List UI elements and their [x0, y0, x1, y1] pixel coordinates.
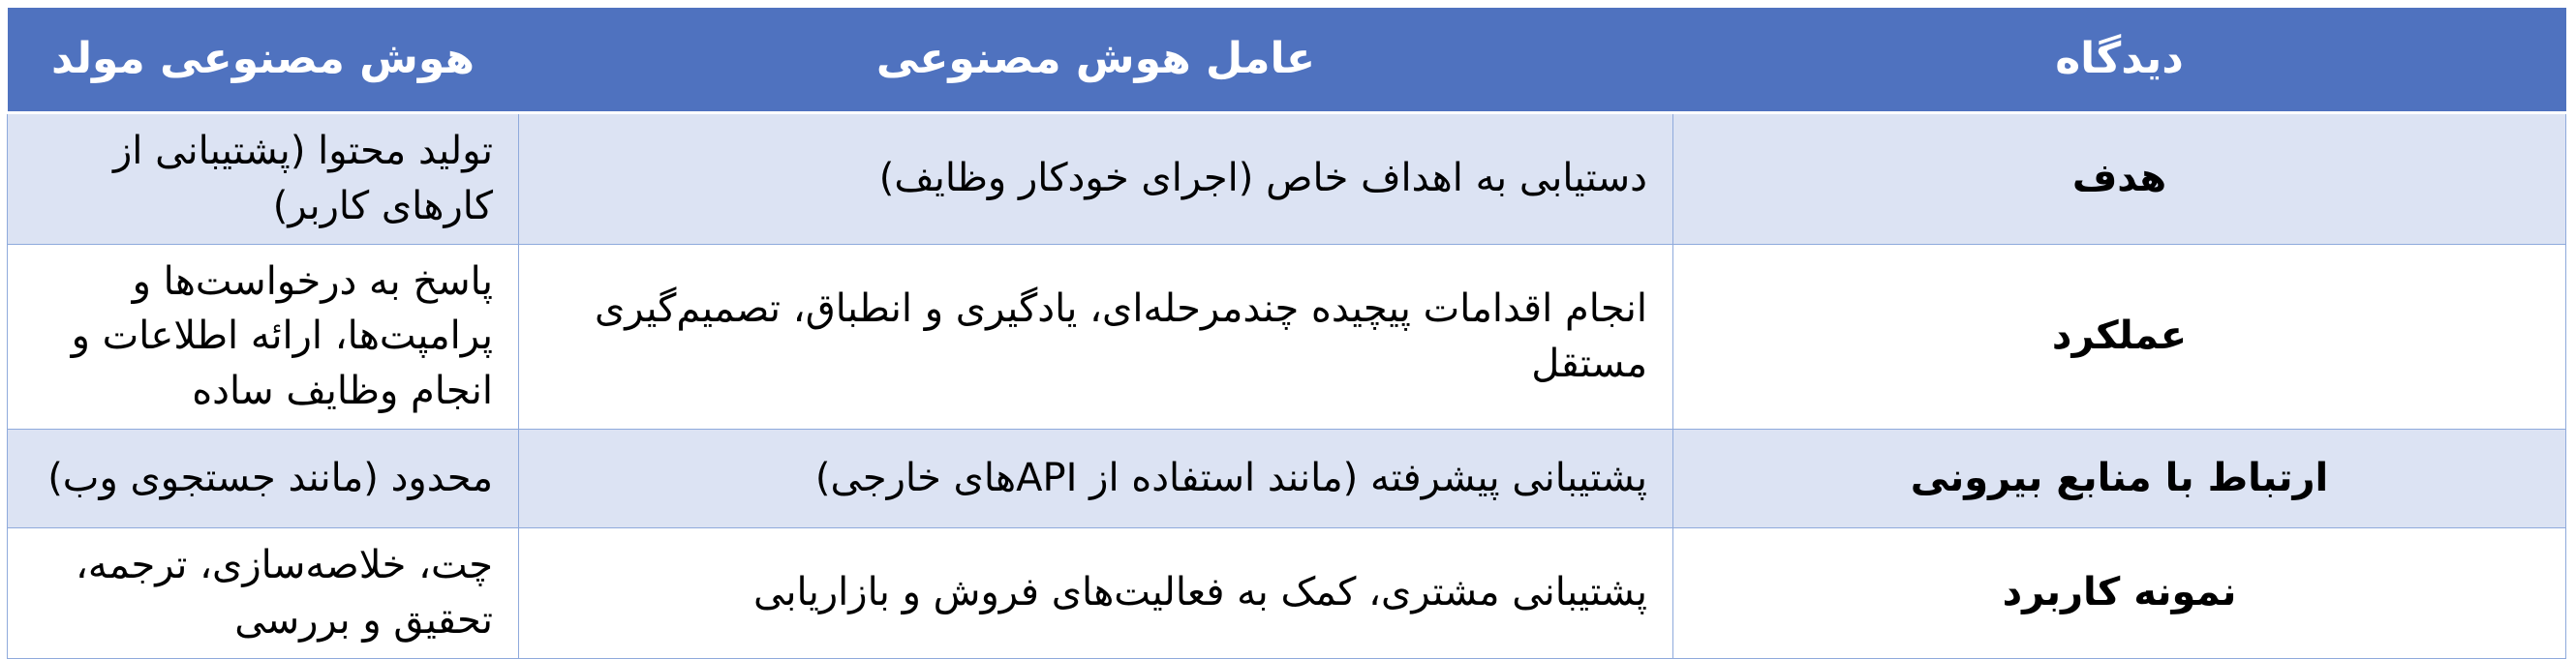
cell-perspective-external-resources: ارتباط با منابع بیرونی	[1673, 429, 2566, 527]
header-row: دیدگاه عامل هوش مصنوعی هوش مصنوعی مولد	[8, 8, 2566, 113]
column-header-ai-agent: عامل هوش مصنوعی	[519, 8, 1673, 113]
cell-genai-use-case: چت، خلاصه‌سازی، ترجمه، تحقیق و بررسی	[8, 527, 519, 658]
comparison-table: دیدگاه عامل هوش مصنوعی هوش مصنوعی مولد ه…	[7, 8, 2566, 659]
table-row: ارتباط با منابع بیرونی پشتیبانی پیشرفته …	[8, 429, 2566, 527]
table-body: هدف دستیابی به اهداف خاص (اجرای خودکار و…	[8, 113, 2566, 659]
column-header-generative-ai: هوش مصنوعی مولد	[8, 8, 519, 113]
cell-perspective-function: عملکرد	[1673, 244, 2566, 429]
cell-agent-goal: دستیابی به اهداف خاص (اجرای خودکار وظایف…	[519, 113, 1673, 245]
cell-genai-goal: تولید محتوا (پشتیبانی از کارهای کاربر)	[8, 113, 519, 245]
table-row: عملکرد انجام اقدامات پیچیده چندمرحله‌ای،…	[8, 244, 2566, 429]
cell-perspective-use-case: نمونه کاربرد	[1673, 527, 2566, 658]
cell-perspective-goal: هدف	[1673, 113, 2566, 245]
cell-genai-function: پاسخ به درخواست‌ها و پرامپت‌ها، ارائه اط…	[8, 244, 519, 429]
table-row: هدف دستیابی به اهداف خاص (اجرای خودکار و…	[8, 113, 2566, 245]
column-header-perspective: دیدگاه	[1673, 8, 2566, 113]
cell-agent-external-resources: پشتیبانی پیشرفته (مانند استفاده از API‌ه…	[519, 429, 1673, 527]
cell-agent-function: انجام اقدامات پیچیده چندمرحله‌ای، یادگیر…	[519, 244, 1673, 429]
table-header: دیدگاه عامل هوش مصنوعی هوش مصنوعی مولد	[8, 8, 2566, 113]
cell-agent-use-case: پشتیبانی مشتری، کمک به فعالیت‌های فروش و…	[519, 527, 1673, 658]
table-row: نمونه کاربرد پشتیبانی مشتری، کمک به فعال…	[8, 527, 2566, 658]
comparison-table-container: دیدگاه عامل هوش مصنوعی هوش مصنوعی مولد ه…	[8, 8, 2566, 550]
cell-genai-external-resources: محدود (مانند جستجوی وب)	[8, 429, 519, 527]
